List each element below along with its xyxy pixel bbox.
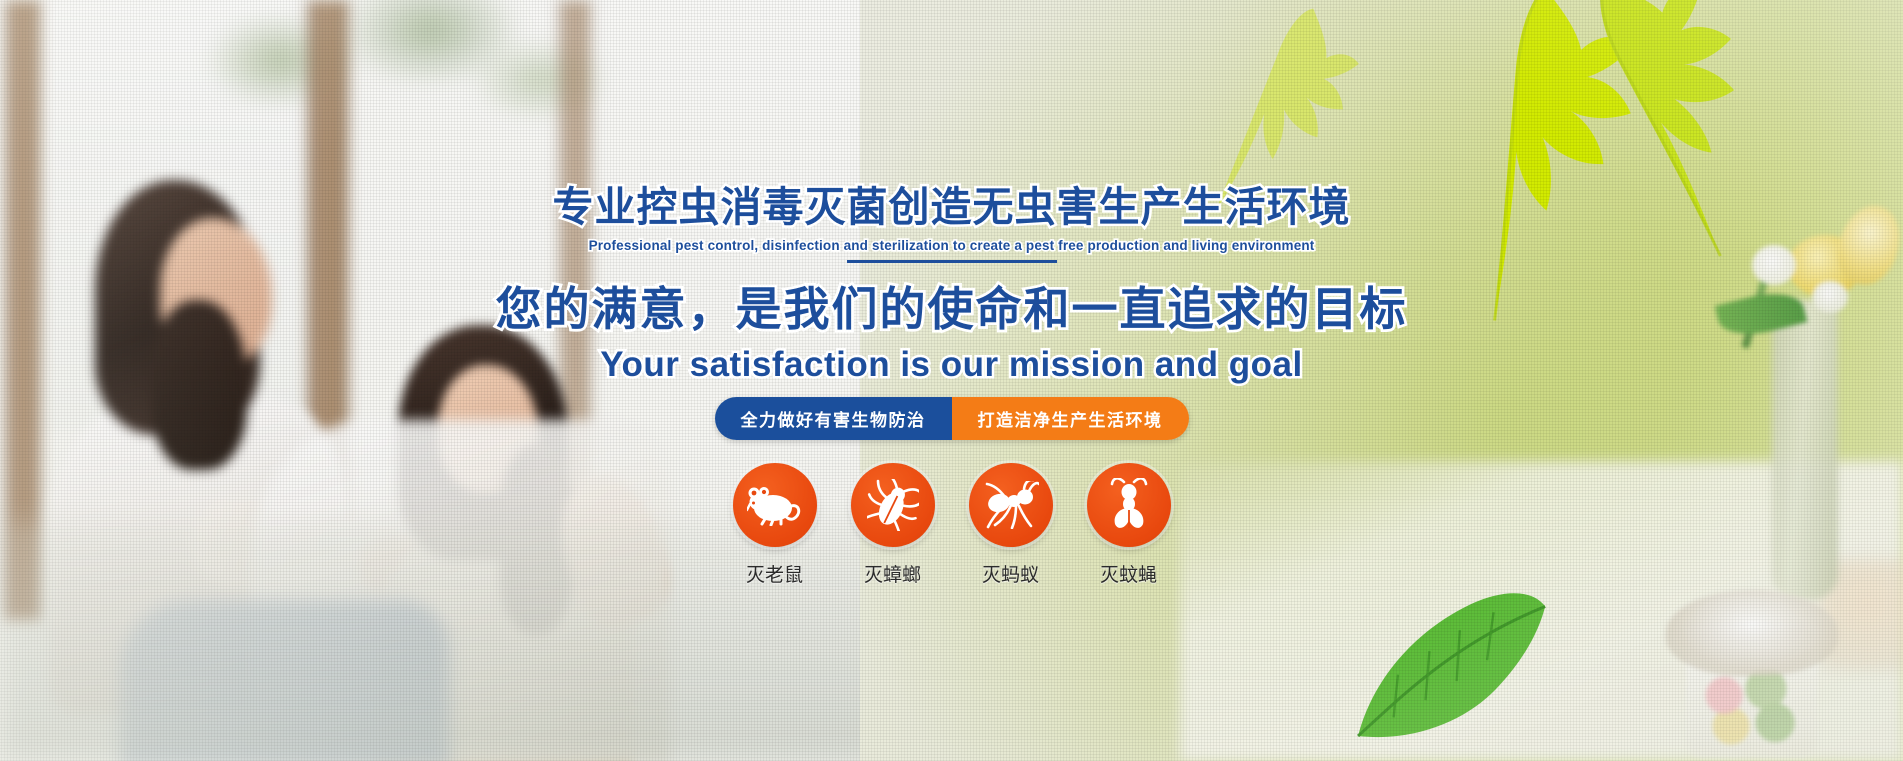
subtitle-primary-en: Professional pest control, disinfection … <box>589 238 1315 253</box>
service-label: 灭蚂蚁 <box>982 560 1039 587</box>
slogan-badge-blue[interactable]: 全力做好有害生物防治 <box>715 397 952 440</box>
service-icon-row: 灭老鼠 <box>733 463 1171 587</box>
mouse-icon <box>733 463 817 547</box>
service-label: 灭蟑螂 <box>864 560 921 587</box>
hero-banner: 专业控虫消毒灭菌创造无虫害生产生活环境 Professional pest co… <box>0 0 1903 761</box>
headline-secondary-cn: 您的满意，是我们的使命和一直追求的目标 <box>496 273 1408 339</box>
service-item-cockroach[interactable]: 灭蟑螂 <box>851 463 935 587</box>
slogan-badge-orange[interactable]: 打造洁净生产生活环境 <box>952 397 1189 440</box>
service-label: 灭老鼠 <box>746 560 803 587</box>
service-item-fly[interactable]: 灭蚊蝇 <box>1087 463 1171 587</box>
cockroach-icon <box>851 463 935 547</box>
service-item-mouse[interactable]: 灭老鼠 <box>733 463 817 587</box>
ant-icon <box>969 463 1053 547</box>
banner-content: 专业控虫消毒灭菌创造无虫害生产生活环境 Professional pest co… <box>0 0 1903 761</box>
slogan-badge-group: 全力做好有害生物防治 打造洁净生产生活环境 <box>715 397 1189 440</box>
service-item-ant[interactable]: 灭蚂蚁 <box>969 463 1053 587</box>
divider-rule <box>847 260 1057 263</box>
service-label: 灭蚊蝇 <box>1100 560 1157 587</box>
fly-icon <box>1087 463 1171 547</box>
subtitle-secondary-en: Your satisfaction is our mission and goa… <box>600 345 1302 385</box>
headline-primary-cn: 专业控虫消毒灭菌创造无虫害生产生活环境 <box>553 186 1351 229</box>
